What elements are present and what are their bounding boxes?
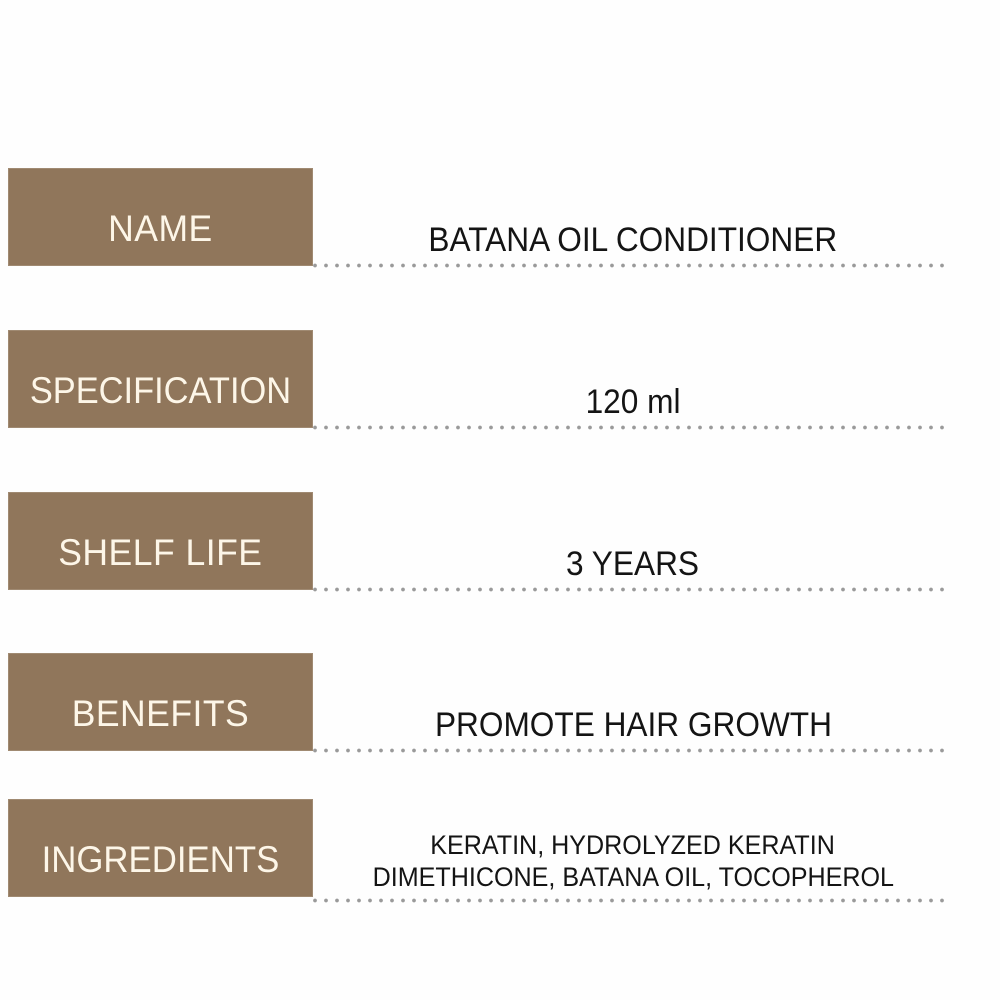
spec-row-specification: SPECIFICATION 120 ml: [0, 330, 1000, 430]
spec-label-box-name: NAME: [8, 168, 313, 266]
spec-row-shelf-life: SHELF LIFE 3 YEARS: [0, 492, 1000, 592]
spec-value-ingredients: KERATIN, HYDROLYZED KERATIN DIMETHICONE,…: [318, 799, 948, 894]
spec-value-specification: 120 ml: [318, 330, 948, 422]
spec-row-separator: [313, 898, 948, 903]
spec-row-separator: [313, 263, 948, 268]
spec-value-line: DIMETHICONE, BATANA OIL, TOCOPHEROL: [372, 862, 893, 894]
spec-value-line: 120 ml: [586, 382, 681, 422]
spec-label-text: SHELF LIFE: [58, 534, 262, 589]
spec-label-text: INGREDIENTS: [42, 841, 280, 896]
spec-label-box-specification: SPECIFICATION: [8, 330, 313, 428]
spec-value-line: PROMOTE HAIR GROWTH: [434, 705, 831, 745]
spec-value-line: BATANA OIL CONDITIONER: [429, 220, 838, 260]
spec-label-text: NAME: [108, 210, 213, 265]
spec-row-separator: [313, 587, 948, 592]
product-spec-sheet: NAME BATANA OIL CONDITIONER SPECIFICATIO…: [0, 0, 1000, 1000]
spec-value-name: BATANA OIL CONDITIONER: [318, 168, 948, 260]
spec-row-benefits: BENEFITS PROMOTE HAIR GROWTH: [0, 653, 1000, 753]
spec-value-line: 3 YEARS: [566, 544, 699, 584]
spec-row-separator: [313, 425, 948, 430]
spec-value-shelf-life: 3 YEARS: [318, 492, 948, 584]
spec-label-text: SPECIFICATION: [30, 372, 291, 427]
spec-label-box-benefits: BENEFITS: [8, 653, 313, 751]
spec-row-separator: [313, 748, 948, 753]
spec-label-box-ingredients: INGREDIENTS: [8, 799, 313, 897]
spec-label-box-shelf-life: SHELF LIFE: [8, 492, 313, 590]
spec-value-line: KERATIN, HYDROLYZED KERATIN: [431, 830, 836, 862]
spec-label-text: BENEFITS: [72, 695, 250, 750]
spec-row-ingredients: INGREDIENTS KERATIN, HYDROLYZED KERATIN …: [0, 799, 1000, 903]
spec-row-name: NAME BATANA OIL CONDITIONER: [0, 168, 1000, 268]
spec-value-benefits: PROMOTE HAIR GROWTH: [318, 653, 948, 745]
